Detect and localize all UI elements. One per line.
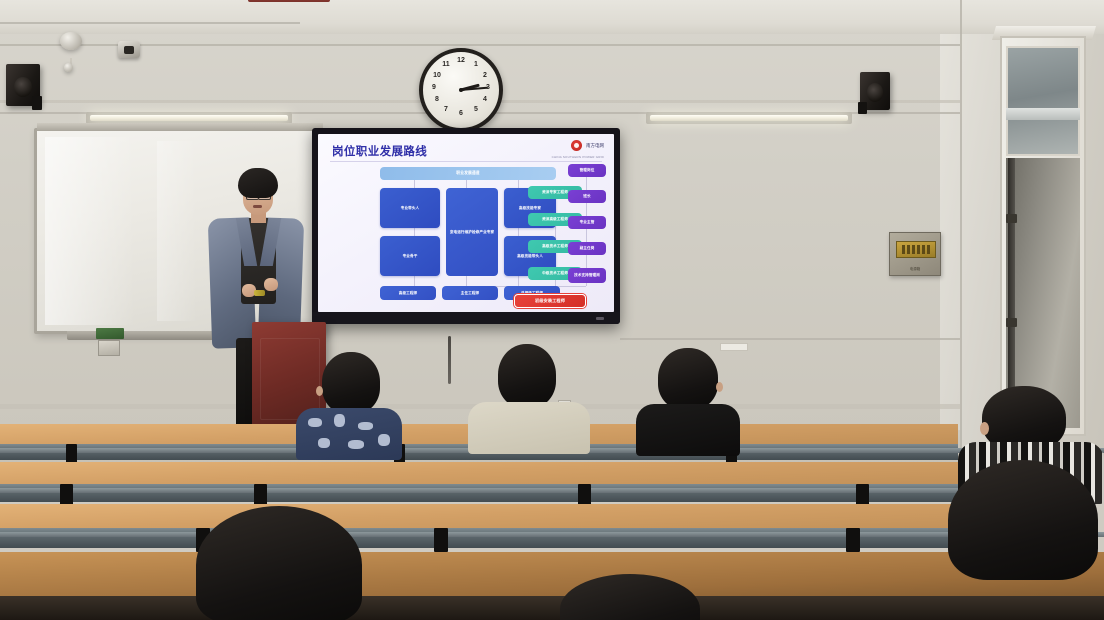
connector (466, 180, 467, 188)
clock-num: 8 (432, 95, 442, 105)
wall-seam (0, 44, 960, 46)
presenter-hair (238, 168, 278, 198)
wall-electrical-panel: 电源箱 (889, 232, 941, 276)
logo-subtext: CHINA SOUTHERN POWER GRID (552, 155, 604, 159)
fluorescent-tube (90, 115, 288, 121)
panel-switch (922, 245, 925, 254)
diagram-node-purple-3: 副主任岗 (568, 242, 606, 255)
desk-bracket (846, 528, 860, 552)
shirt-pattern (334, 414, 345, 427)
shirt-pattern (348, 440, 364, 449)
presentation-clicker[interactable] (254, 290, 265, 296)
student-head (560, 574, 700, 620)
diagram-node-blue-left-1: 专业骨干 (380, 236, 440, 276)
student-head (322, 352, 380, 414)
diagram-node-blue-bottom-0: 高级工程师 (380, 286, 436, 300)
diagram-node-blue-center: 变电运行维护检修产业专家 (446, 188, 498, 276)
presenter-mouth (253, 205, 262, 208)
student-4 (196, 506, 362, 620)
student-2 (468, 344, 590, 452)
diagram-node-purple-4: 技术支持管理岗 (568, 268, 606, 283)
wall-clock: 12 1 2 3 4 5 6 7 8 9 10 11 (419, 48, 503, 132)
wall-mounted-green-box (96, 328, 124, 339)
desk-bracket (66, 444, 77, 464)
desk-row-2-rail (0, 488, 1104, 493)
student-head (948, 460, 1098, 580)
student-torso (468, 402, 590, 454)
ceiling-camera (118, 41, 140, 58)
desk-bracket (254, 484, 267, 506)
student-torso (296, 408, 402, 460)
student-head (658, 348, 718, 410)
diagram-node-purple-2: 专业主管 (568, 216, 606, 229)
presenter-hand-right (264, 278, 278, 291)
panel-label: 电源箱 (890, 267, 940, 272)
display-power-led (596, 317, 604, 320)
connector (518, 180, 519, 188)
classroom-photo: 12 1 2 3 4 5 6 7 8 9 10 11 岗位职业发展路线 南方电网… (0, 0, 1104, 620)
student-torso (636, 404, 740, 456)
clock-num: 9 (429, 83, 439, 93)
display-bezel (312, 312, 620, 324)
clock-num: 1 (471, 60, 481, 70)
shirt-pattern (308, 418, 322, 427)
panel-window (896, 241, 936, 258)
connector (414, 276, 415, 286)
desk-bracket (60, 484, 73, 506)
student-3 (636, 348, 740, 452)
fluorescent-tube (650, 115, 848, 121)
desk-bracket (856, 484, 869, 506)
slide-title: 岗位职业发展路线 (332, 143, 427, 159)
panel-switch (927, 245, 930, 254)
clock-num: 12 (456, 56, 466, 66)
diagram-node-purple-1: 班长 (568, 190, 606, 203)
desk-row-4-front (0, 596, 1104, 620)
speaker-bracket (32, 96, 42, 110)
wall-seam (0, 22, 300, 24)
speaker-bracket (858, 102, 867, 114)
diagram-node-purple-0: 管理岗位 (568, 164, 606, 177)
logo-text: 南方电网 (586, 143, 604, 149)
whiteboard-sheen (157, 141, 197, 321)
slide-title-rule (330, 161, 602, 162)
presentation-slide: 岗位职业发展路线 南方电网 CHINA SOUTHERN POWER GRID … (318, 134, 614, 312)
clock-num: 2 (480, 71, 490, 81)
shirt-pattern (378, 434, 390, 446)
door-hinge (1006, 214, 1017, 223)
whiteboard-sheen (45, 137, 135, 325)
student-head (196, 506, 362, 620)
clock-num: 6 (456, 109, 466, 119)
student-ear (980, 422, 989, 435)
panel-switch (902, 245, 905, 254)
desk-bracket (578, 484, 591, 506)
transom-mullion (1006, 108, 1080, 120)
wall-mounted-display[interactable]: 岗位职业发展路线 南方电网 CHINA SOUTHERN POWER GRID … (312, 128, 620, 324)
logo-mark-icon (571, 140, 582, 151)
desk-row-3-edge (0, 528, 958, 548)
podium-top (248, 0, 330, 2)
diagram-node-highlight: 初级安装工程师 (514, 294, 586, 308)
diagram-node-header: 职业发展通道 (380, 167, 556, 180)
dome-light-small (64, 63, 73, 72)
student-7 (560, 574, 700, 620)
company-logo: 南方电网 (571, 140, 604, 151)
clock-num: 11 (441, 60, 451, 70)
student-1 (296, 352, 402, 452)
connector (466, 276, 467, 286)
diagram-node-blue-bottom-1: 主任工程师 (442, 286, 498, 300)
connector (414, 180, 415, 188)
desk-bracket (434, 528, 448, 552)
hanging-cable (448, 336, 451, 384)
wall-seam (620, 338, 960, 340)
ceiling (0, 0, 1104, 34)
connector (518, 276, 519, 286)
panel-switch (917, 245, 920, 254)
dome-light (60, 32, 82, 50)
panel-switch (912, 245, 915, 254)
shirt-pattern (358, 422, 373, 430)
desk-row-2-edge (0, 484, 958, 502)
clock-num: 5 (471, 105, 481, 115)
diagram-node-blue-left-0: 专业带头人 (380, 188, 440, 228)
clock-num: 4 (480, 95, 490, 105)
panel-switch (907, 245, 910, 254)
student-head (498, 344, 556, 408)
student-ear (316, 386, 323, 396)
desk-row-3-rail (0, 532, 1104, 537)
shirt-pattern (318, 438, 330, 448)
clock-num: 7 (441, 105, 451, 115)
student-ear (716, 382, 723, 392)
door-transom-window (1006, 46, 1080, 156)
clock-num: 10 (432, 71, 442, 81)
clock-center-pin (459, 88, 463, 92)
student-6 (948, 460, 1104, 620)
wall-mounted-plate (98, 340, 120, 356)
door-hinge (1006, 318, 1017, 327)
